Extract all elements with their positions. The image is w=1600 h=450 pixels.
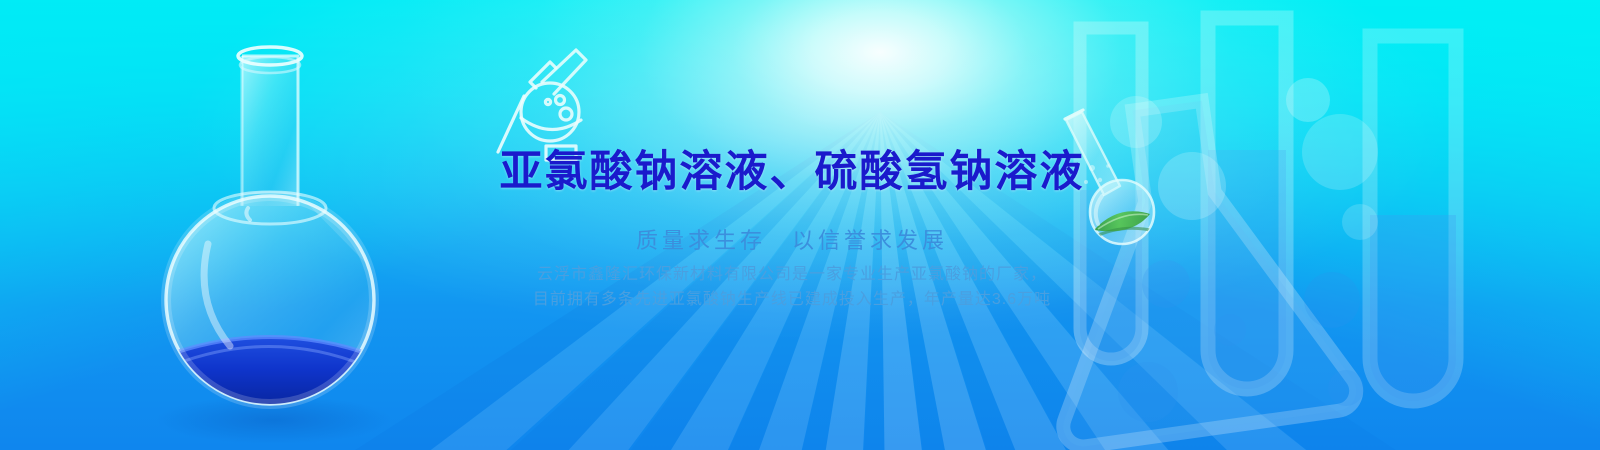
sunburst-rays-light bbox=[0, 0, 1600, 450]
promo-banner: 亚氯酸钠溶液、硫酸氢钠溶液 质量求生存 以信誉求发展 云浮市鑫隆汇环保新材料有限… bbox=[0, 0, 1600, 450]
